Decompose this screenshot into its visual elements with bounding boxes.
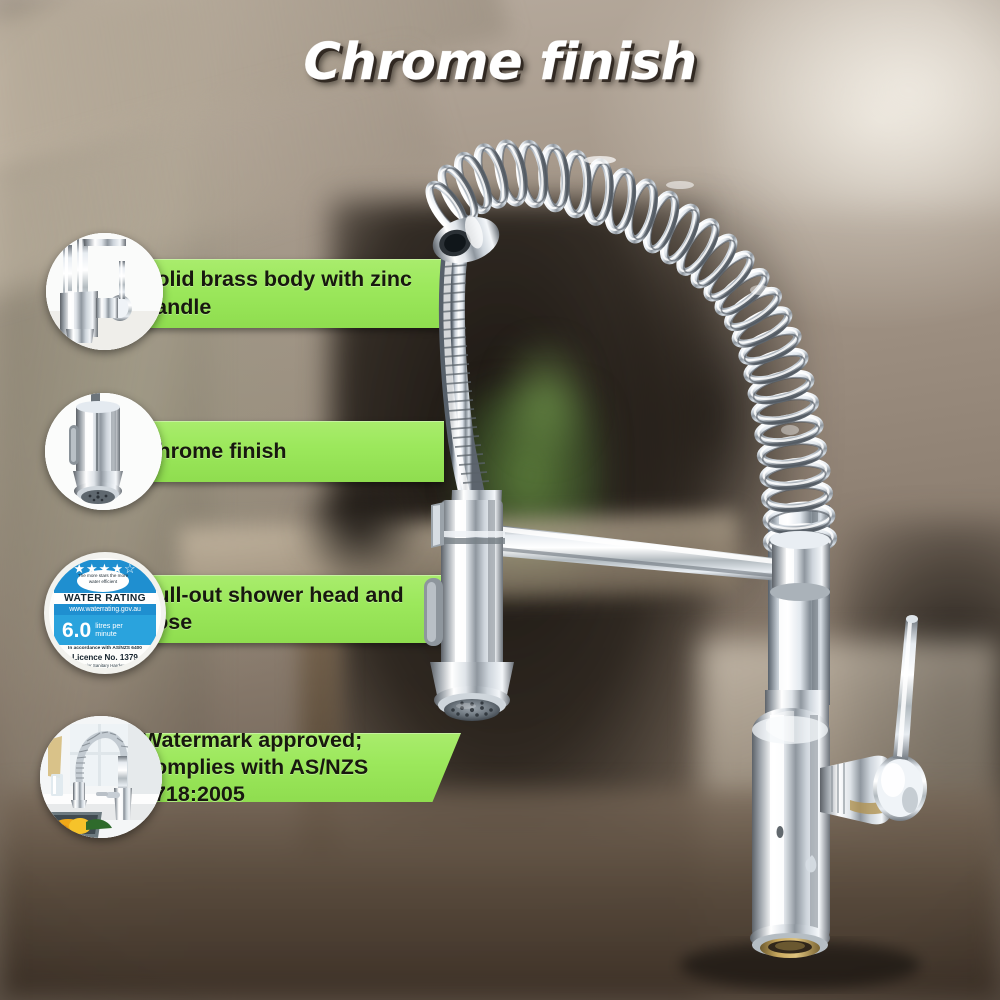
lever-handle [820,615,927,824]
water-rating-url: www.waterrating.gov.au [54,604,156,615]
flow-unit: litres per minute [95,622,123,639]
water-rating-standard: In accordance with AS/NZS 6400 [54,646,156,651]
brass-base-thread [760,938,820,958]
spray-head-closeup-thumbnail [45,393,162,510]
kitchen-sink-scene-thumbnail [40,716,162,838]
thumbnail-solid-brass-body[interactable] [46,233,163,350]
thumbnail-water-rating-badge[interactable]: ★★★★☆ The more stars the more water effi… [44,552,166,674]
pull-out-spray-head [424,490,514,721]
water-rating-licence: Licence No. 1379 [54,653,156,662]
flow-value: 6.0 [62,620,91,641]
water-rating-label: ★★★★☆ The more stars the more water effi… [49,558,161,668]
water-rating-maker: Major Sanitary Hardware [54,663,156,668]
faucet-body [750,690,830,958]
thumbnail-chrome-finish[interactable] [45,393,162,510]
product-image-chrome-spring-kitchen-tap [0,0,1000,1000]
water-rating-flow: 6.0 litres per minute [54,615,156,645]
flow-unit-line2: minute [95,629,117,638]
infographic-canvas: Chrome finish Solid brass body with zinc… [0,0,1000,1000]
swivel-spout-arm [498,525,830,601]
faucet-body-closeup-thumbnail [46,233,163,350]
thumbnail-watermark-approved[interactable] [40,716,162,838]
flexible-hose [427,209,504,495]
water-rating-bubble-text: The more stars the more water efficient [77,570,129,592]
